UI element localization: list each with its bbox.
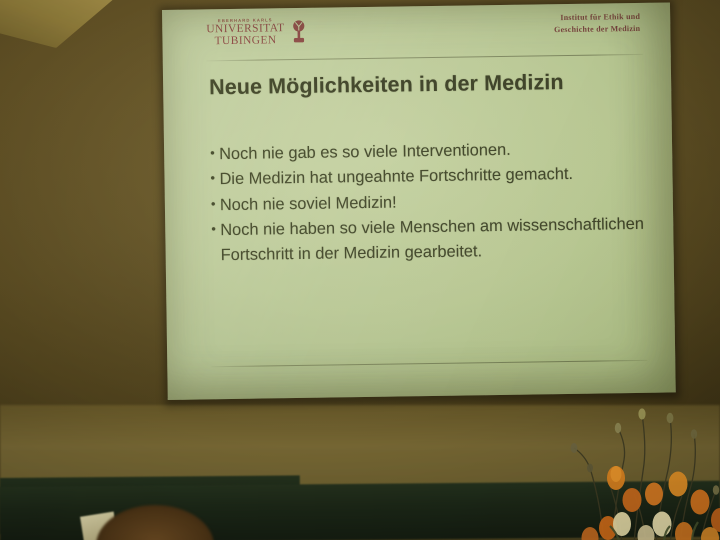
- institute-line-1: Institut für Ethik und: [554, 11, 640, 24]
- bullet-marker-icon: •: [211, 218, 220, 240]
- bullet-marker-icon: •: [211, 193, 220, 215]
- list-item: • Noch nie haben so viele Menschen am wi…: [211, 212, 646, 268]
- bullet-list: • Noch nie gab es so viele Interventione…: [210, 136, 646, 269]
- university-wordmark: EBERHARD KARLS UNIVERSITAT TUBINGEN: [206, 18, 285, 47]
- tree-emblem-icon: [291, 19, 306, 45]
- university-logo: EBERHARD KARLS UNIVERSITAT TUBINGEN: [206, 18, 307, 48]
- institute-line-2: Geschichte der Medizin: [554, 23, 640, 36]
- flower-bouquet: [560, 398, 720, 540]
- bullet-text: Noch nie haben so viele Menschen am wiss…: [220, 212, 646, 268]
- footer-divider: [211, 360, 647, 367]
- slide-header: EBERHARD KARLS UNIVERSITAT TUBINGEN Inst…: [162, 2, 671, 62]
- bullet-marker-icon: •: [210, 142, 219, 164]
- logo-city-line: TUBINGEN: [206, 35, 284, 48]
- institute-title: Institut für Ethik und Geschichte der Me…: [554, 11, 641, 35]
- photo-scene: EBERHARD KARLS UNIVERSITAT TUBINGEN Inst…: [0, 0, 720, 540]
- slide-title: Neue Möglichkeiten in der Medizin: [209, 70, 564, 100]
- presentation-slide: EBERHARD KARLS UNIVERSITAT TUBINGEN Inst…: [162, 2, 676, 399]
- bullet-marker-icon: •: [210, 168, 219, 190]
- projection-screen: EBERHARD KARLS UNIVERSITAT TUBINGEN Inst…: [162, 2, 676, 399]
